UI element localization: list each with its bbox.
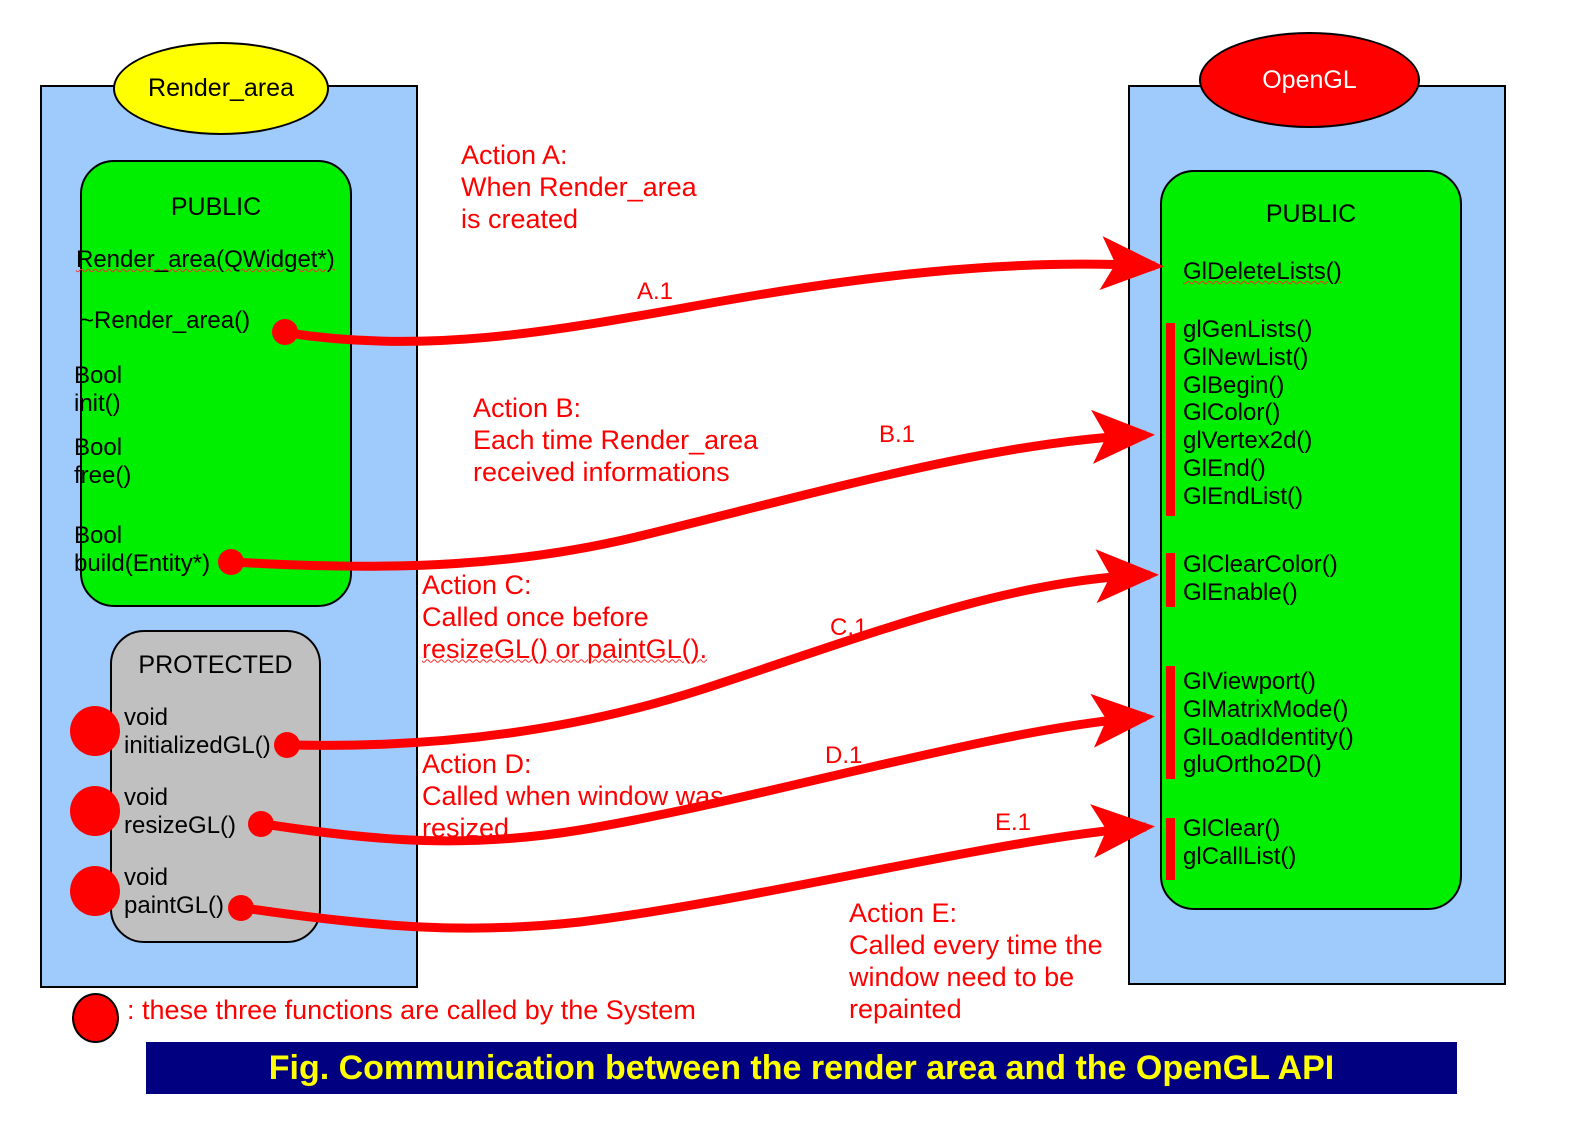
connector-origin-d xyxy=(248,811,274,837)
system-call-marker-icon xyxy=(70,706,120,756)
legend-red-circle-icon xyxy=(72,993,119,1043)
public-label-right: PUBLIC xyxy=(1162,200,1460,229)
opengl-call-glcolor: GlColor() xyxy=(1183,399,1312,427)
connector-a1 xyxy=(288,264,1155,341)
member-free-signature: free() xyxy=(74,462,131,490)
protected-label-left: PROTECTED xyxy=(112,651,319,680)
opengl-call-gldeletelists: GlDeleteLists() xyxy=(1183,258,1342,286)
opengl-call-glclearcolor: GlClearColor() xyxy=(1183,551,1338,579)
opengl-call-gluortho2d: gluOrtho2D() xyxy=(1183,751,1354,779)
member-initializedgl: void initializedGL() xyxy=(124,704,271,760)
opengl-call-glcalllist: glCallList() xyxy=(1183,843,1296,871)
opengl-call-glenable: GlEnable() xyxy=(1183,579,1338,607)
connector-origin-a xyxy=(272,319,298,345)
connector-c1 xyxy=(290,575,1150,745)
connector-origin-e xyxy=(228,895,254,921)
opengl-class-title: OpenGL xyxy=(1199,32,1420,128)
member-initializedgl-signature: initializedGL() xyxy=(124,732,271,760)
action-b-line-2: received informations xyxy=(473,457,758,489)
step-label-d1: D.1 xyxy=(825,742,862,770)
system-call-marker-icon xyxy=(70,866,120,916)
member-render-area-dtor: ~Render_area() xyxy=(80,307,250,335)
member-free: Bool free() xyxy=(74,434,131,490)
member-paintgl: void paintGL() xyxy=(124,864,224,920)
diagram-canvas: PUBLIC Render_area(QWidget*) ~Render_are… xyxy=(0,0,1588,1122)
call-group-bracket-b xyxy=(1166,323,1175,516)
action-e-line-2: window need to be xyxy=(849,962,1103,994)
member-build-signature: build(Entity*) xyxy=(74,550,210,578)
action-c-line-2: resizeGL() or paintGL(). xyxy=(422,634,707,666)
member-init: Bool init() xyxy=(74,362,122,418)
action-c-title: Action C: xyxy=(422,570,707,602)
annotation-action-b: Action B: Each time Render_area received… xyxy=(473,393,758,489)
action-d-line-1: Called when window was xyxy=(422,781,724,813)
opengl-call-glviewport: GlViewport() xyxy=(1183,668,1354,696)
member-resizegl: void resizeGL() xyxy=(124,784,236,840)
action-e-line-1: Called every time the xyxy=(849,930,1103,962)
call-group-bracket-d xyxy=(1166,666,1175,779)
opengl-call-group-b: glGenLists() GlNewList() GlBegin() GlCol… xyxy=(1183,316,1312,511)
member-paintgl-signature: paintGL() xyxy=(124,892,224,920)
annotation-action-a: Action A: When Render_area is created xyxy=(461,140,697,236)
opengl-call-glmatrixmode: GlMatrixMode() xyxy=(1183,696,1354,724)
action-d-line-2: resized. xyxy=(422,813,724,845)
connector-origin-c xyxy=(274,732,300,758)
opengl-call-glgenlists: glGenLists() xyxy=(1183,316,1312,344)
opengl-call-glvertex2d: glVertex2d() xyxy=(1183,427,1312,455)
annotation-action-d: Action D: Called when window was resized… xyxy=(422,749,724,845)
opengl-call-glclear: GlClear() xyxy=(1183,815,1296,843)
system-call-marker-icon xyxy=(70,786,120,836)
member-build: Bool build(Entity*) xyxy=(74,522,210,578)
member-resizegl-signature: resizeGL() xyxy=(124,812,236,840)
opengl-call-glloadidentity: GlLoadIdentity() xyxy=(1183,724,1354,752)
action-b-title: Action B: xyxy=(473,393,758,425)
member-paintgl-type: void xyxy=(124,864,224,892)
action-c-line-1: Called once before xyxy=(422,602,707,634)
legend-text: : these three functions are called by th… xyxy=(127,995,696,1026)
opengl-call-glnewlist: GlNewList() xyxy=(1183,344,1312,372)
opengl-call-group-c: GlClearColor() GlEnable() xyxy=(1183,551,1338,607)
action-a-line-2: is created xyxy=(461,204,697,236)
member-initializedgl-type: void xyxy=(124,704,271,732)
step-label-a1: A.1 xyxy=(637,278,673,306)
call-group-bracket-e xyxy=(1166,818,1175,880)
member-init-signature: init() xyxy=(74,390,122,418)
annotation-action-c: Action C: Called once before resizeGL() … xyxy=(422,570,707,666)
connector-origin-b xyxy=(218,549,244,575)
call-group-bracket-c xyxy=(1166,553,1175,607)
opengl-call-glendlist: GlEndList() xyxy=(1183,483,1312,511)
member-init-type: Bool xyxy=(74,362,122,390)
figure-caption-bar: Fig. Communication between the render ar… xyxy=(146,1042,1457,1094)
opengl-call-glbegin: GlBegin() xyxy=(1183,372,1312,400)
opengl-call-group-e: GlClear() glCallList() xyxy=(1183,815,1296,871)
member-resizegl-type: void xyxy=(124,784,236,812)
figure-caption-text: Fig. Communication between the render ar… xyxy=(269,1049,1335,1088)
opengl-call-group-d: GlViewport() GlMatrixMode() GlLoadIdenti… xyxy=(1183,668,1354,779)
public-label-left: PUBLIC xyxy=(82,193,350,222)
step-label-b1: B.1 xyxy=(879,421,915,449)
member-build-type: Bool xyxy=(74,522,210,550)
action-e-line-3: repainted xyxy=(849,994,1103,1026)
action-d-title: Action D: xyxy=(422,749,724,781)
member-render-area-ctor: Render_area(QWidget*) xyxy=(76,246,335,274)
opengl-call-glend: GlEnd() xyxy=(1183,455,1312,483)
member-free-type: Bool xyxy=(74,434,131,462)
action-b-line-1: Each time Render_area xyxy=(473,425,758,457)
step-label-e1: E.1 xyxy=(995,809,1031,837)
action-e-title: Action E: xyxy=(849,898,1103,930)
annotation-action-e: Action E: Called every time the window n… xyxy=(849,898,1103,1025)
action-a-title: Action A: xyxy=(461,140,697,172)
step-label-c1: C.1 xyxy=(830,614,867,642)
action-a-line-1: When Render_area xyxy=(461,172,697,204)
render-area-class-title: Render_area xyxy=(113,42,329,135)
